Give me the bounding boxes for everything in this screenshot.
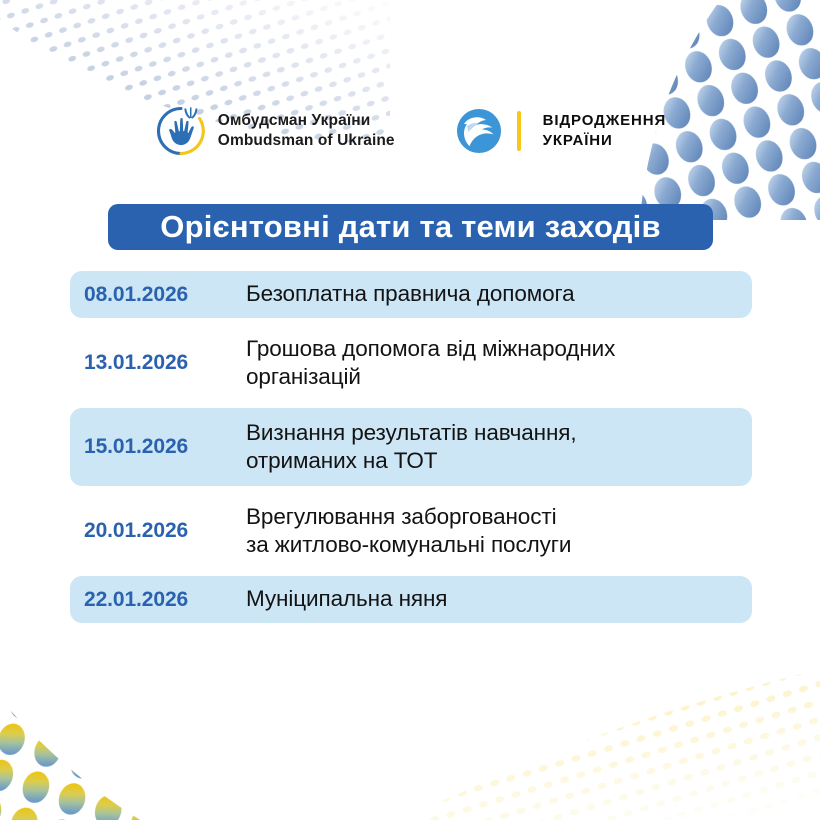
schedule-row-topic: Муніципальна няня	[246, 585, 740, 613]
ombudsman-hand-trident-circle-icon	[154, 104, 208, 158]
schedule-row-topic: Визнання результатів навчання, отриманих…	[246, 419, 740, 476]
schedule-row-date: 13.01.2026	[84, 351, 246, 375]
header-logo-row: Омбудсман України Ombudsman of Ukraine В…	[0, 100, 820, 162]
schedule-row: 22.01.2026 Муніципальна няня	[70, 576, 752, 623]
schedule-row: 15.01.2026 Визнання результатів навчання…	[70, 408, 752, 486]
poster-canvas: Омбудсман України Ombudsman of Ukraine В…	[0, 0, 820, 820]
bird-in-circle-icon	[455, 107, 503, 155]
schedule-row-topic-line1: Грошова допомога від міжнародних	[246, 336, 615, 361]
schedule-row-topic-line1: Врегулювання заборгованості	[246, 504, 556, 529]
schedule-row-topic: Врегулювання заборгованості за житлово-к…	[246, 503, 740, 560]
schedule-row: 08.01.2026 Безоплатна правнича допомога	[70, 271, 752, 318]
schedule-row: 20.01.2026 Врегулювання заборгованості з…	[70, 492, 752, 570]
vidrodzhennia-line-1: ВІДРОДЖЕННЯ	[543, 111, 667, 131]
schedule-row-topic: Грошова допомога від міжнародних організ…	[246, 335, 740, 392]
title-banner: Орієнтовні дати та теми заходів	[108, 204, 713, 250]
schedule-row-topic: Безоплатна правнича допомога	[246, 280, 740, 308]
schedule-row-date: 22.01.2026	[84, 588, 246, 612]
ombudsman-logo: Омбудсман України Ombudsman of Ukraine	[154, 104, 395, 158]
schedule-row-date: 15.01.2026	[84, 435, 246, 459]
ombudsman-logo-text: Омбудсман України Ombudsman of Ukraine	[218, 111, 395, 151]
schedule-list: 08.01.2026 Безоплатна правнича допомога …	[70, 271, 752, 623]
bottom-right-dot-wave-decoration	[220, 610, 820, 820]
vidrodzhennia-logo: ВІДРОДЖЕННЯ УКРАЇНИ	[455, 107, 667, 155]
vidrodzhennia-logo-text: ВІДРОДЖЕННЯ УКРАЇНИ	[543, 111, 667, 151]
schedule-row-topic-line2: отриманих на ТОТ	[246, 447, 740, 475]
page-title: Орієнтовні дати та теми заходів	[160, 211, 660, 242]
schedule-row-topic-line2: організацій	[246, 363, 740, 391]
ombudsman-logo-line-ua: Омбудсман України	[218, 111, 395, 131]
vidrodzhennia-line-2: УКРАЇНИ	[543, 131, 667, 151]
schedule-row-date: 08.01.2026	[84, 283, 246, 307]
schedule-row-topic-line2: за житлово-комунальні послуги	[246, 531, 740, 559]
ombudsman-logo-line-en: Ombudsman of Ukraine	[218, 131, 395, 151]
schedule-row-topic-line1: Безоплатна правнича допомога	[246, 281, 575, 306]
schedule-row-topic-line1: Муніципальна няня	[246, 586, 447, 611]
schedule-row-topic-line1: Визнання результатів навчання,	[246, 420, 577, 445]
schedule-row-date: 20.01.2026	[84, 519, 246, 543]
schedule-row: 13.01.2026 Грошова допомога від міжнарод…	[70, 324, 752, 402]
logo-divider	[517, 111, 521, 151]
